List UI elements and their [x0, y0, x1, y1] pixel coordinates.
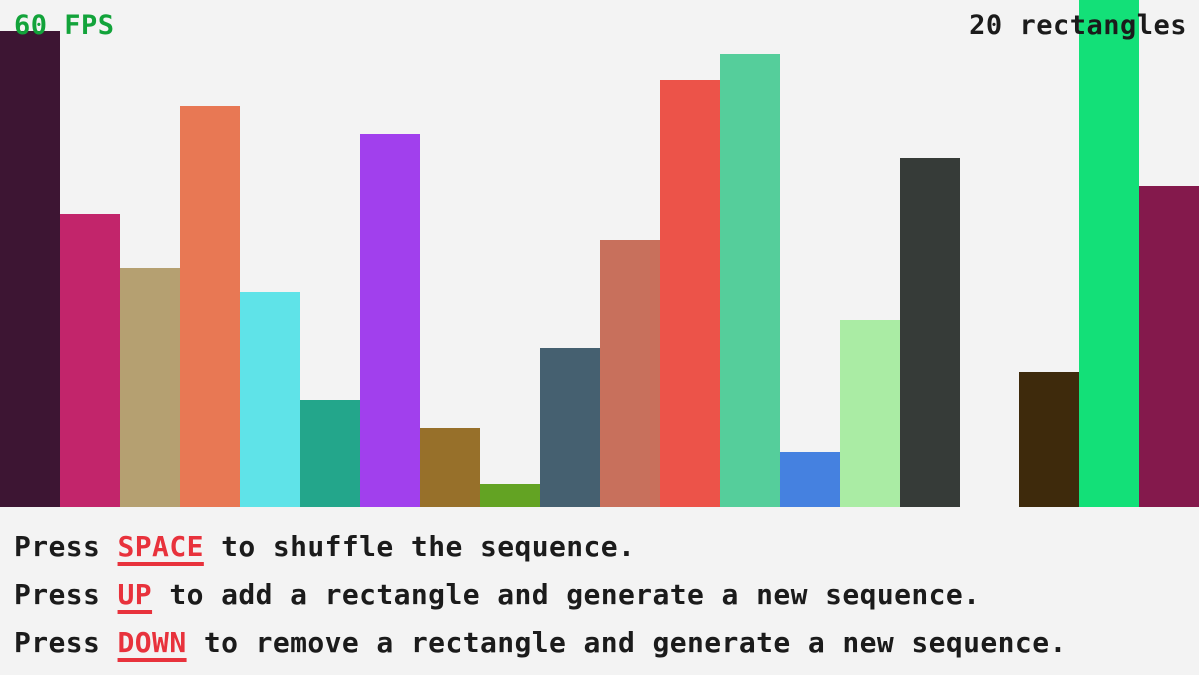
bar-18	[1019, 372, 1079, 507]
bar-1	[0, 31, 60, 507]
bar-4	[180, 106, 240, 507]
key-up[interactable]: UP	[118, 578, 153, 611]
instruction-suffix: to add a rectangle and generate a new se…	[152, 578, 980, 611]
bar-5	[240, 292, 300, 507]
rectangle-count-label: 20 rectangles	[969, 12, 1187, 39]
bar-14	[780, 452, 840, 507]
fps-counter: 60 FPS	[14, 12, 115, 39]
instruction-suffix: to remove a rectangle and generate a new…	[187, 626, 1067, 659]
bar-10	[540, 348, 600, 507]
instruction-line-1: Press SPACE to shuffle the sequence.	[14, 523, 1199, 571]
instruction-suffix: to shuffle the sequence.	[204, 530, 635, 563]
bar-11	[600, 240, 660, 507]
bar-6	[300, 400, 360, 507]
bar-15	[840, 320, 900, 507]
bar-16	[900, 158, 960, 507]
game-canvas[interactable]: 60 FPS 20 rectangles Press SPACE to shuf…	[0, 0, 1199, 675]
bar-9	[480, 484, 540, 507]
key-space[interactable]: SPACE	[118, 530, 204, 563]
instruction-prefix: Press	[14, 578, 118, 611]
bar-2	[60, 214, 120, 507]
instruction-prefix: Press	[14, 530, 118, 563]
key-down[interactable]: DOWN	[118, 626, 187, 659]
bar-8	[420, 428, 480, 507]
bar-chart	[0, 0, 1199, 507]
instruction-line-3: Press DOWN to remove a rectangle and gen…	[14, 619, 1199, 667]
instruction-prefix: Press	[14, 626, 118, 659]
bar-20	[1139, 186, 1199, 507]
instruction-line-2: Press UP to add a rectangle and generate…	[14, 571, 1199, 619]
bar-7	[360, 134, 420, 507]
bar-12	[660, 80, 720, 507]
bar-19	[1079, 0, 1139, 507]
instructions-panel: Press SPACE to shuffle the sequence.Pres…	[0, 507, 1199, 675]
bar-13	[720, 54, 780, 507]
bar-3	[120, 268, 180, 507]
